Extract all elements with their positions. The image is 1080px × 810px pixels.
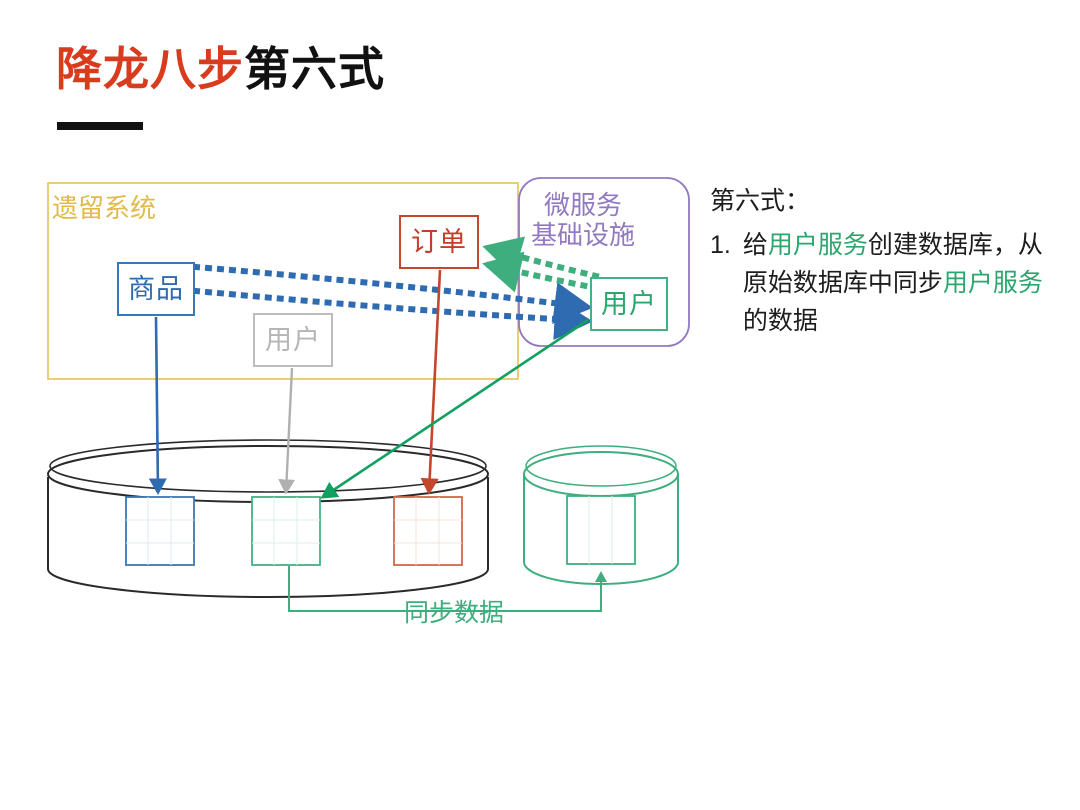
- sync-data-label: 同步数据: [404, 593, 504, 629]
- user-service-database-top: [524, 452, 678, 496]
- notes-panel: 第六式： 1. 给用户服务创建数据库，从原始数据库中同步用户服务的数据: [710, 182, 1050, 340]
- notes-heading: 第六式：: [710, 182, 1050, 220]
- notes-seg-3: 用户服务: [943, 269, 1043, 297]
- legacy-system-label: 遗留系统: [52, 193, 156, 223]
- user-table: [252, 497, 320, 565]
- microservice-infra-label-line2: 基础设施: [531, 220, 635, 250]
- node-product-service[interactable]: 商品: [117, 262, 195, 316]
- node-microservice-user[interactable]: 用户: [590, 277, 668, 331]
- edge-user-to-order-call-1: [489, 248, 596, 276]
- notes-seg-1: 用户服务: [768, 231, 868, 259]
- product-table: [126, 497, 194, 565]
- node-order-service[interactable]: 订单: [399, 215, 479, 269]
- user-service-table: [567, 496, 635, 564]
- microservice-infra-label-line1: 微服务: [531, 190, 635, 220]
- notes-list: 1. 给用户服务创建数据库，从原始数据库中同步用户服务的数据: [710, 226, 1050, 340]
- order-table: [394, 497, 462, 565]
- notes-seg-4: 的数据: [743, 307, 818, 335]
- notes-item-marker: 1.: [710, 226, 731, 264]
- notes-item-text: 给用户服务创建数据库，从原始数据库中同步用户服务的数据: [743, 226, 1050, 340]
- notes-list-item: 1. 给用户服务创建数据库，从原始数据库中同步用户服务的数据: [710, 226, 1050, 340]
- legacy-database-top: [48, 446, 488, 502]
- edge-user-to-order-call-2: [489, 265, 596, 288]
- microservice-infra-label: 微服务 基础设施: [531, 190, 635, 250]
- node-legacy-user-service[interactable]: 用户: [253, 313, 333, 367]
- notes-seg-0: 给: [743, 231, 768, 259]
- slide-canvas: 降龙八步第六式: [0, 0, 1080, 810]
- architecture-diagram: [0, 0, 1080, 810]
